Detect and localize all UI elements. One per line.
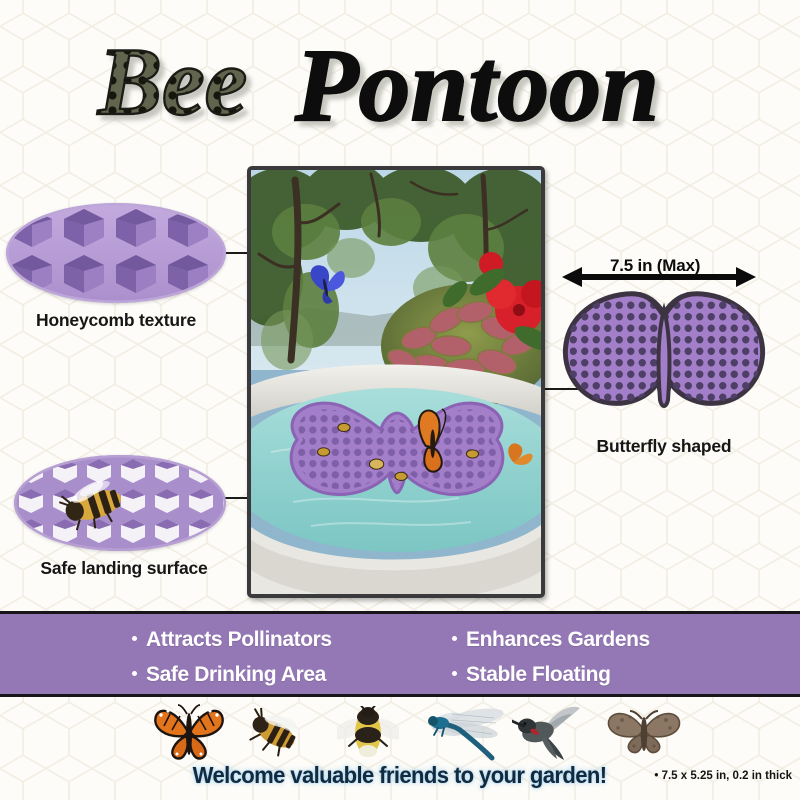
butterfly-mat-icon bbox=[556, 288, 772, 428]
page-title: Bee Pontoon bbox=[0, 28, 800, 143]
feature-item-1: Enhances Gardens bbox=[452, 628, 692, 652]
product-photo bbox=[247, 166, 545, 598]
moth-icon bbox=[604, 708, 684, 758]
callout-label-honeycomb: Honeycomb texture bbox=[6, 310, 226, 331]
feature-item-3: Stable Floating bbox=[452, 663, 692, 687]
title-word-bee: Bee bbox=[97, 28, 247, 135]
feature-label: Stable Floating bbox=[466, 663, 611, 687]
fine-print-dimensions: • 7.5 x 5.25 in, 0.2 in thick bbox=[654, 770, 792, 782]
feature-item-0: Attracts Pollinators bbox=[132, 628, 452, 652]
dragonfly-icon bbox=[420, 704, 516, 762]
callout-label-butterfly: Butterfly shaped bbox=[556, 436, 772, 457]
tagline-text: Welcome valuable friends to your garden! bbox=[193, 762, 607, 789]
bullet-icon bbox=[452, 671, 457, 676]
infographic-page: Bee Pontoon bbox=[0, 0, 800, 800]
bee-on-honeycomb-icon bbox=[14, 455, 226, 551]
title-word-pontoon: Pontoon bbox=[294, 28, 659, 140]
monarch-butterfly-icon bbox=[150, 704, 228, 760]
honeybee-icon bbox=[243, 708, 309, 760]
pollinator-strip bbox=[0, 700, 800, 762]
dimension-arrow bbox=[562, 266, 756, 288]
hummingbird-icon bbox=[512, 704, 586, 762]
feature-label: Attracts Pollinators bbox=[146, 628, 332, 652]
callout-label-landing: Safe landing surface bbox=[14, 558, 234, 579]
feature-bar: Attracts Pollinators Enhances Gardens Sa… bbox=[0, 611, 800, 697]
bullet-icon bbox=[132, 636, 137, 641]
bullet-icon bbox=[132, 671, 137, 676]
bumblebee-icon bbox=[337, 706, 399, 760]
feature-label: Enhances Gardens bbox=[466, 628, 650, 652]
feature-item-2: Safe Drinking Area bbox=[132, 663, 452, 687]
honeycomb-closeup-icon bbox=[6, 203, 226, 303]
feature-label: Safe Drinking Area bbox=[146, 663, 326, 687]
callout-safe-landing-surface: Safe landing surface bbox=[14, 455, 234, 579]
bullet-icon bbox=[452, 636, 457, 641]
callout-honeycomb-texture: Honeycomb texture bbox=[6, 203, 226, 331]
